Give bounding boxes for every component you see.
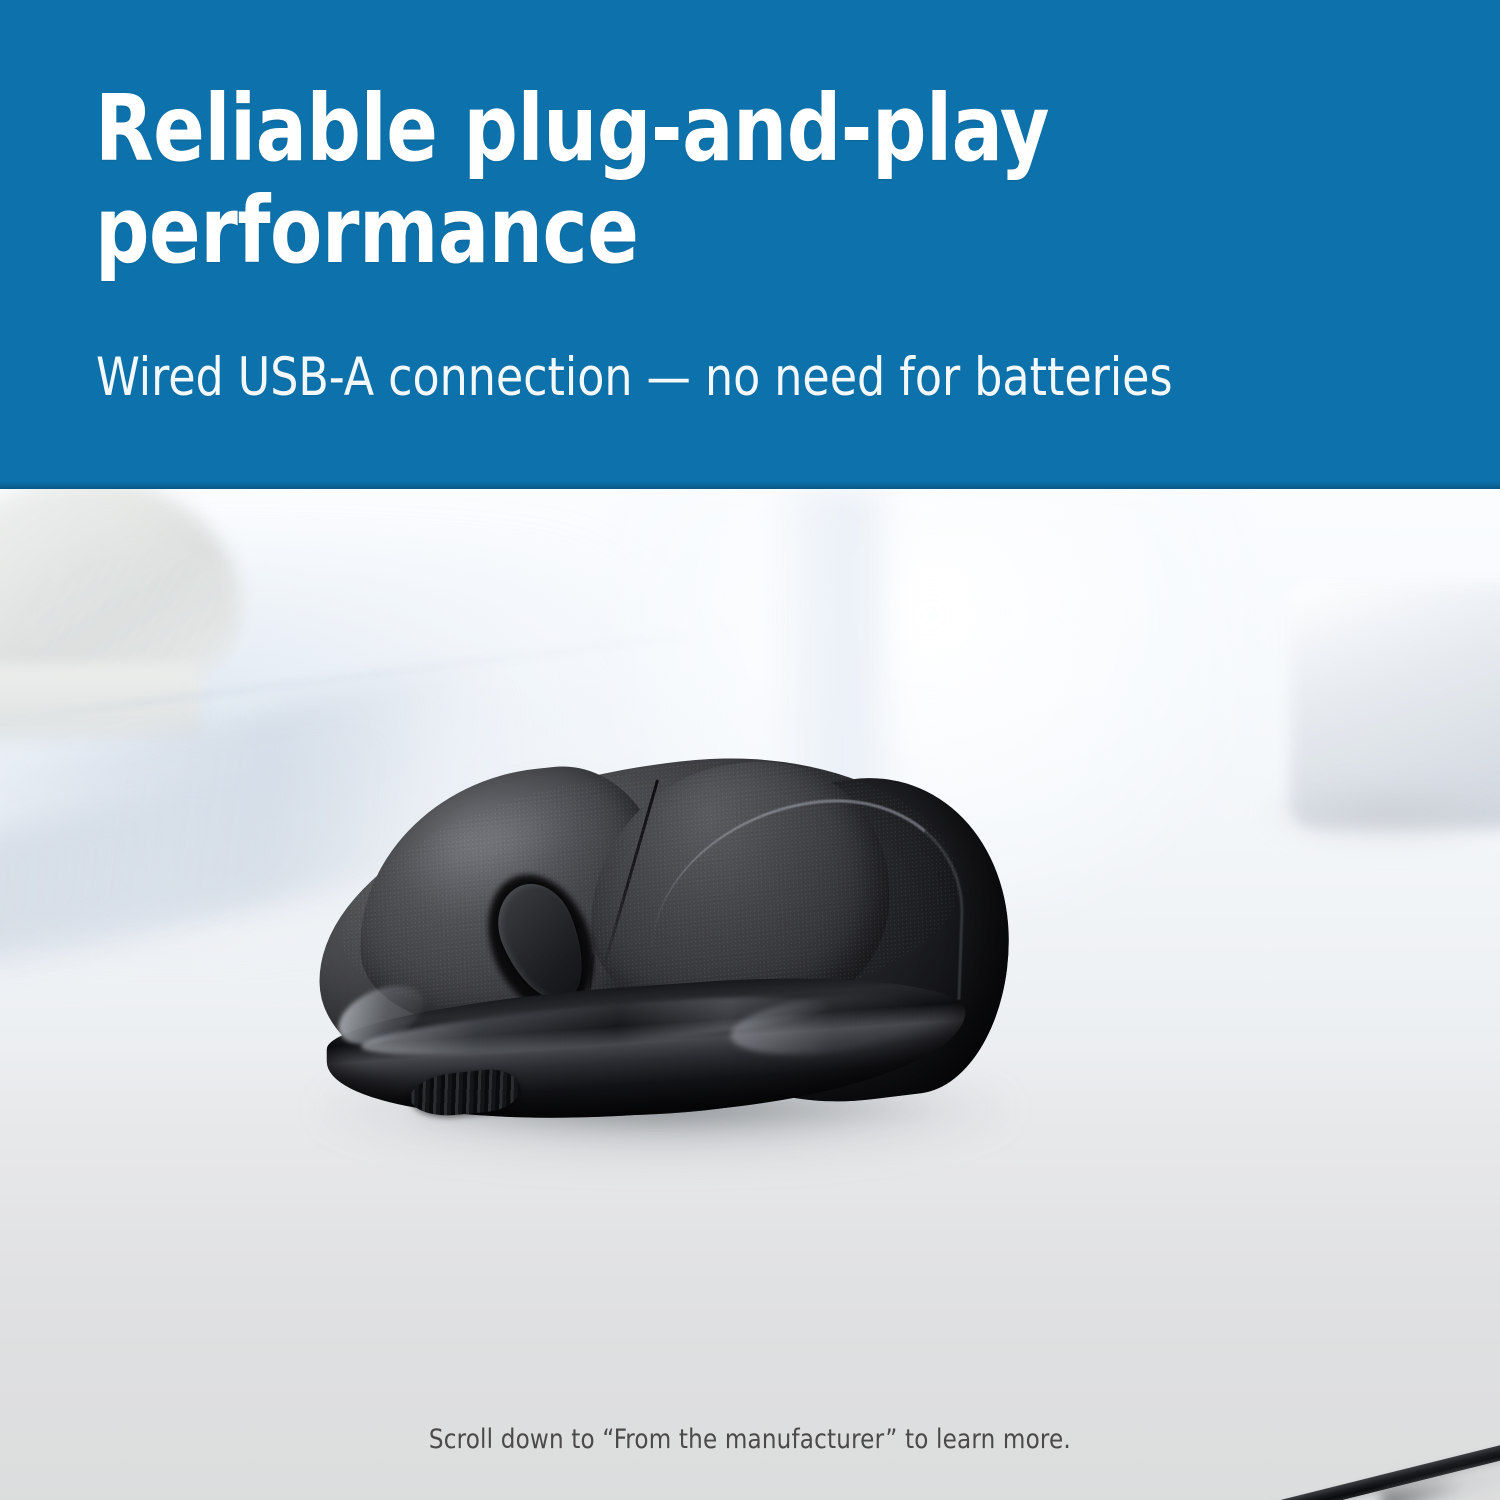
product-feature-image: Reliable plug-and-play performance Wired… bbox=[0, 0, 1500, 1500]
banner-headline: Reliable plug-and-play performance bbox=[95, 78, 1107, 282]
banner-bottom-shadow bbox=[0, 481, 1500, 489]
background-laptop-shadow bbox=[1260, 789, 1500, 849]
banner-subheadline: Wired USB-A connection — no need for bat… bbox=[96, 348, 1342, 409]
product-photo bbox=[0, 489, 1500, 1500]
mouse-product bbox=[300, 754, 1020, 1154]
scroll-hint-caption: Scroll down to “From the manufacturer” t… bbox=[0, 1424, 1500, 1455]
feature-banner: Reliable plug-and-play performance Wired… bbox=[0, 0, 1500, 489]
scroll-hint-text: Scroll down to “From the manufacturer” t… bbox=[429, 1424, 1071, 1455]
background-sleeve-base bbox=[0, 664, 200, 739]
